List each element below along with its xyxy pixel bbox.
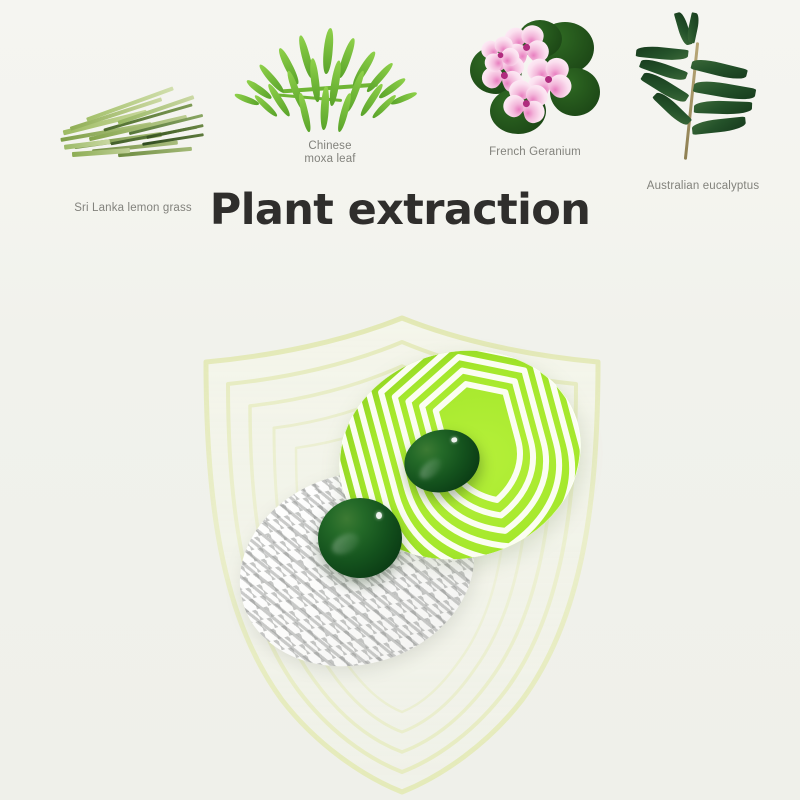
moxa-leaf-icon [248, 24, 416, 142]
ingredient-geranium: French Geranium [450, 12, 620, 180]
ingredient-moxa: Chinese moxa leaf [240, 18, 420, 188]
ingredient-label-geranium: French Geranium [489, 146, 581, 159]
gel-dome-specular-dot [451, 436, 458, 443]
ingredient-label-moxa: Chinese moxa leaf [304, 140, 355, 165]
gel-dome-specular-dot [376, 512, 382, 519]
page-title: Plant extraction [0, 185, 800, 235]
eucalyptus-branch-icon [630, 32, 780, 162]
lemongrass-bundle-icon [58, 90, 208, 170]
geranium-flower-icon [464, 16, 604, 144]
product-poster: Sri Lanka lemon grass [0, 0, 800, 800]
ingredient-eucalyptus: Australian eucalyptus [612, 28, 794, 194]
herbal-relief-patch [232, 352, 582, 682]
herbal-gel-dome-white [318, 498, 402, 578]
gel-dome-highlight [329, 529, 362, 558]
gel-dome-highlight [416, 455, 444, 482]
